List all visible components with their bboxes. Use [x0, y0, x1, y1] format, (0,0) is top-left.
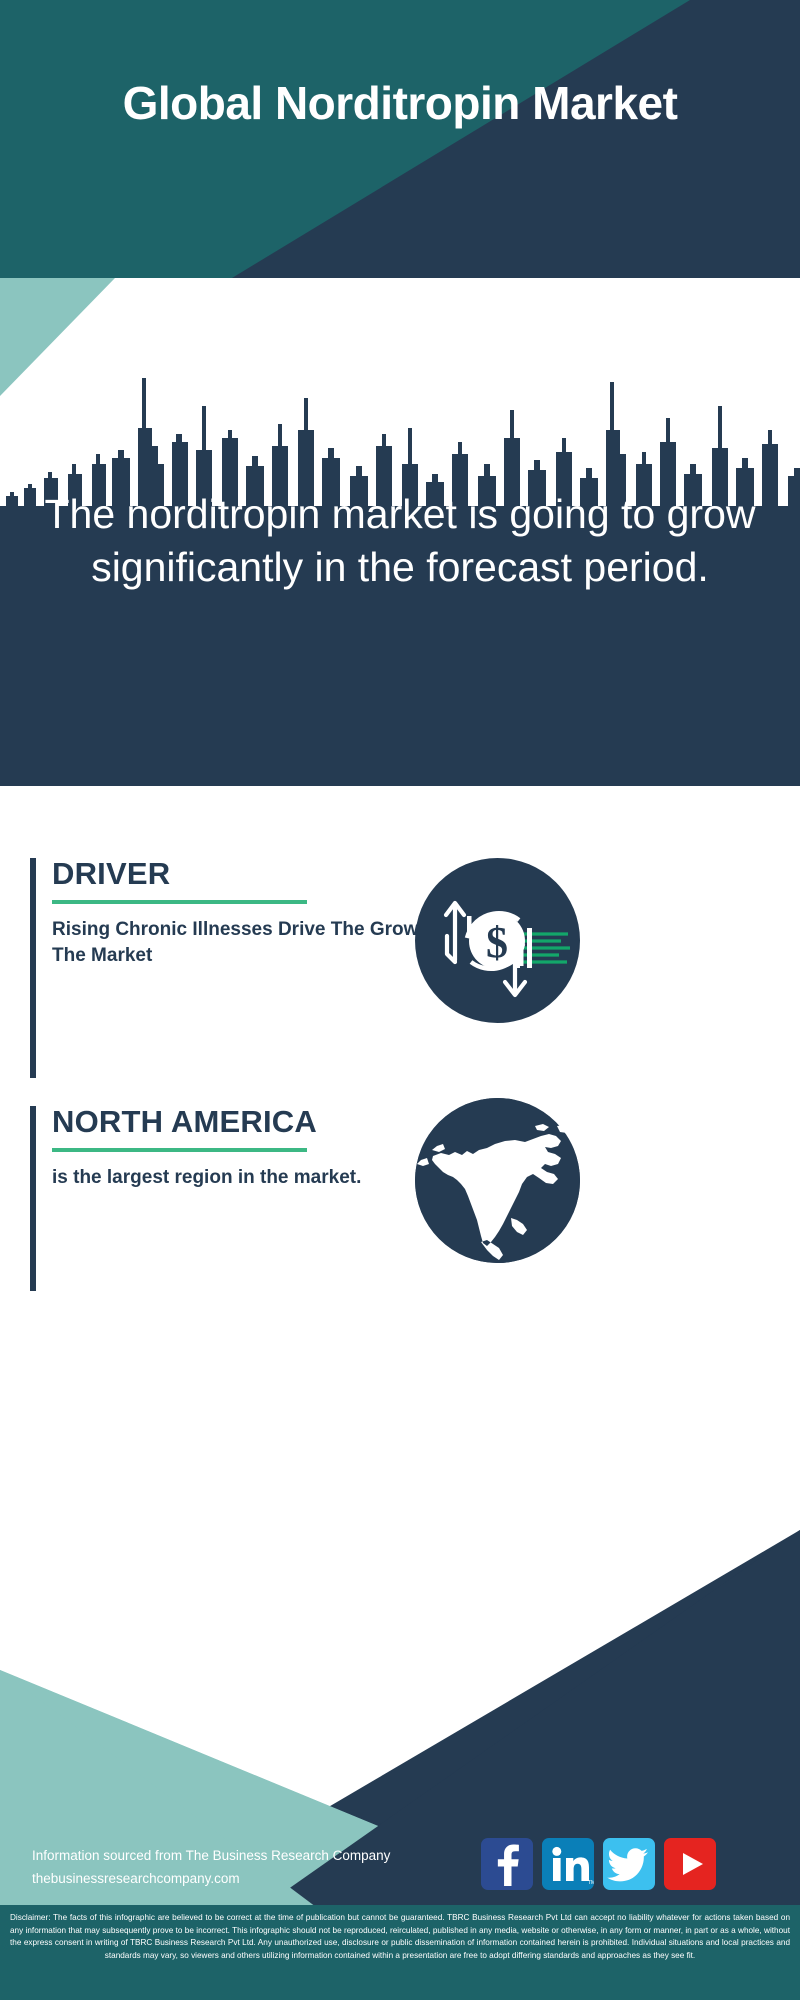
card-underline	[52, 900, 307, 904]
card-north-america: NORTH AMERICA is the largest region in t…	[30, 1106, 770, 1291]
dollar-growth-arrows-icon: $	[415, 858, 580, 1023]
svg-text:$: $	[486, 918, 508, 967]
social-links: TM	[481, 1838, 716, 1890]
footer-overlap-shapes	[0, 1316, 800, 2000]
header-section: Global Norditropin Market	[0, 0, 800, 278]
disclaimer-text: Disclaimer: The facts of this infographi…	[10, 1912, 790, 1963]
north-america-map-icon	[415, 1098, 580, 1263]
footer-section	[0, 1316, 800, 2000]
infographic-page: Global Norditropin Market The norditropi…	[0, 0, 800, 2000]
card-driver: DRIVER Rising Chronic Illnesses Drive Th…	[30, 858, 770, 1078]
svg-text:TM: TM	[588, 1880, 594, 1886]
disclaimer-bar: Disclaimer: The facts of this infographi…	[0, 1905, 800, 2000]
linkedin-icon[interactable]: TM	[542, 1838, 594, 1890]
twitter-icon[interactable]	[603, 1838, 655, 1890]
page-title: Global Norditropin Market	[0, 78, 800, 130]
header-diagonal-shape	[0, 0, 800, 278]
quote-section: The norditropin market is going to grow …	[0, 278, 800, 786]
facebook-icon[interactable]	[481, 1838, 533, 1890]
credit-line-2[interactable]: thebusinessresearchcompany.com	[32, 1867, 462, 1890]
quote-text: The norditropin market is going to grow …	[0, 488, 800, 595]
footer-credit: Information sourced from The Business Re…	[32, 1844, 462, 1890]
card-accent-bar	[30, 858, 36, 1078]
card-accent-bar	[30, 1106, 36, 1291]
youtube-icon[interactable]	[664, 1838, 716, 1890]
cards-section: DRIVER Rising Chronic Illnesses Drive Th…	[0, 786, 800, 1316]
credit-line-1: Information sourced from The Business Re…	[32, 1844, 462, 1867]
card-underline	[52, 1148, 307, 1152]
